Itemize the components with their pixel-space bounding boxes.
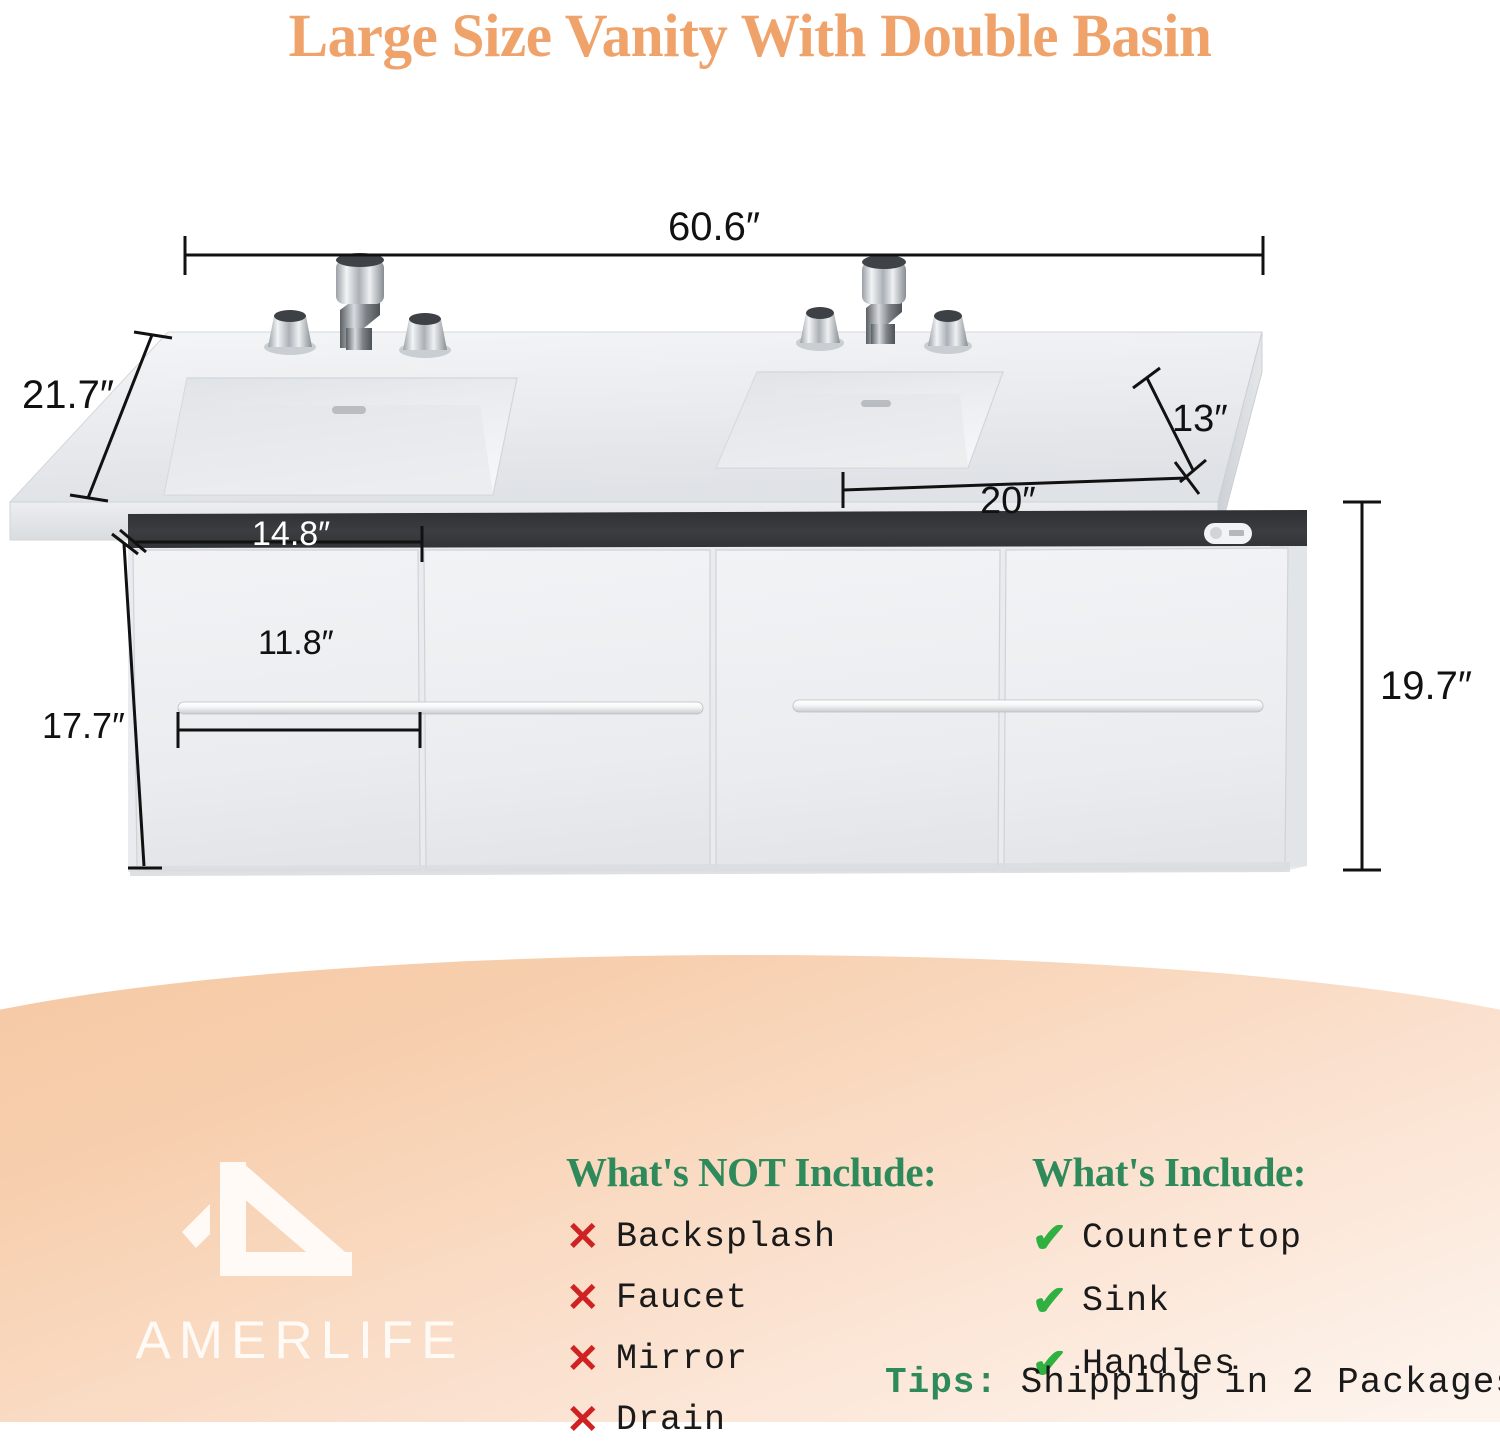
list-item: ✕ Drain bbox=[566, 1400, 1016, 1440]
cabinet-handle-right bbox=[793, 700, 1263, 712]
dimension-label-basin-width: 20″ bbox=[980, 480, 1036, 523]
cabinet-handle-left bbox=[178, 702, 703, 714]
tips-label: Tips: bbox=[885, 1362, 998, 1403]
cross-icon: ✕ bbox=[566, 1339, 600, 1379]
include-heading: What's Include: bbox=[1032, 1148, 1482, 1196]
right-basin bbox=[716, 372, 1003, 468]
dimension-label-door-height: 17.7″ bbox=[42, 705, 125, 747]
cross-icon: ✕ bbox=[566, 1278, 600, 1318]
page-title: Large Size Vanity With Double Basin bbox=[23, 2, 1478, 72]
dimension-label-countertop-depth: 21.7″ bbox=[22, 373, 114, 418]
cross-icon: ✕ bbox=[566, 1400, 600, 1440]
dimension-label-overall-width: 60.6″ bbox=[668, 205, 760, 250]
list-item-label: Mirror bbox=[616, 1339, 748, 1379]
overflow-slot-left bbox=[332, 406, 366, 414]
check-icon: ✔ bbox=[1032, 1217, 1066, 1259]
brand-name: AMERLIFE bbox=[100, 1310, 500, 1371]
not-include-heading: What's NOT Include: bbox=[566, 1148, 1016, 1196]
list-item-label: Sink bbox=[1082, 1281, 1170, 1321]
product-infographic: Large Size Vanity With Double Basin bbox=[0, 0, 1500, 1422]
list-item-label: Backsplash bbox=[616, 1217, 836, 1257]
faucet-right bbox=[796, 255, 972, 354]
include-column: What's Include: ✔ Countertop ✔ Sink ✔ Ha… bbox=[1032, 1148, 1482, 1385]
tips-line: Tips: Shipping in 2 Packages bbox=[885, 1362, 1500, 1403]
dimension-label-drawer-width: 14.8″ bbox=[252, 515, 330, 554]
faucet-left bbox=[264, 253, 451, 358]
check-icon: ✔ bbox=[1032, 1280, 1066, 1322]
overflow-slot-right bbox=[861, 400, 891, 407]
dimension-label-basin-depth: 13″ bbox=[1172, 398, 1228, 441]
list-item: ✕ Faucet bbox=[566, 1278, 1016, 1318]
list-item-label: Countertop bbox=[1082, 1218, 1302, 1258]
list-item-label: Faucet bbox=[616, 1278, 748, 1318]
brand-logo: AMERLIFE bbox=[100, 1160, 500, 1390]
product-badge bbox=[1204, 523, 1252, 544]
dimension-label-cabinet-height: 19.7″ bbox=[1380, 664, 1472, 709]
list-item-label: Drain bbox=[616, 1400, 726, 1440]
left-basin bbox=[164, 378, 517, 495]
tips-text: Shipping in 2 Packages bbox=[998, 1362, 1500, 1403]
house-roof-icon bbox=[176, 1160, 426, 1315]
cross-icon: ✕ bbox=[566, 1217, 600, 1257]
dimension-label-handle-length: 11.8″ bbox=[258, 624, 334, 663]
list-item: ✕ Backsplash bbox=[566, 1217, 1016, 1257]
list-item: ✔ Sink bbox=[1032, 1280, 1482, 1322]
list-item: ✔ Countertop bbox=[1032, 1217, 1482, 1259]
